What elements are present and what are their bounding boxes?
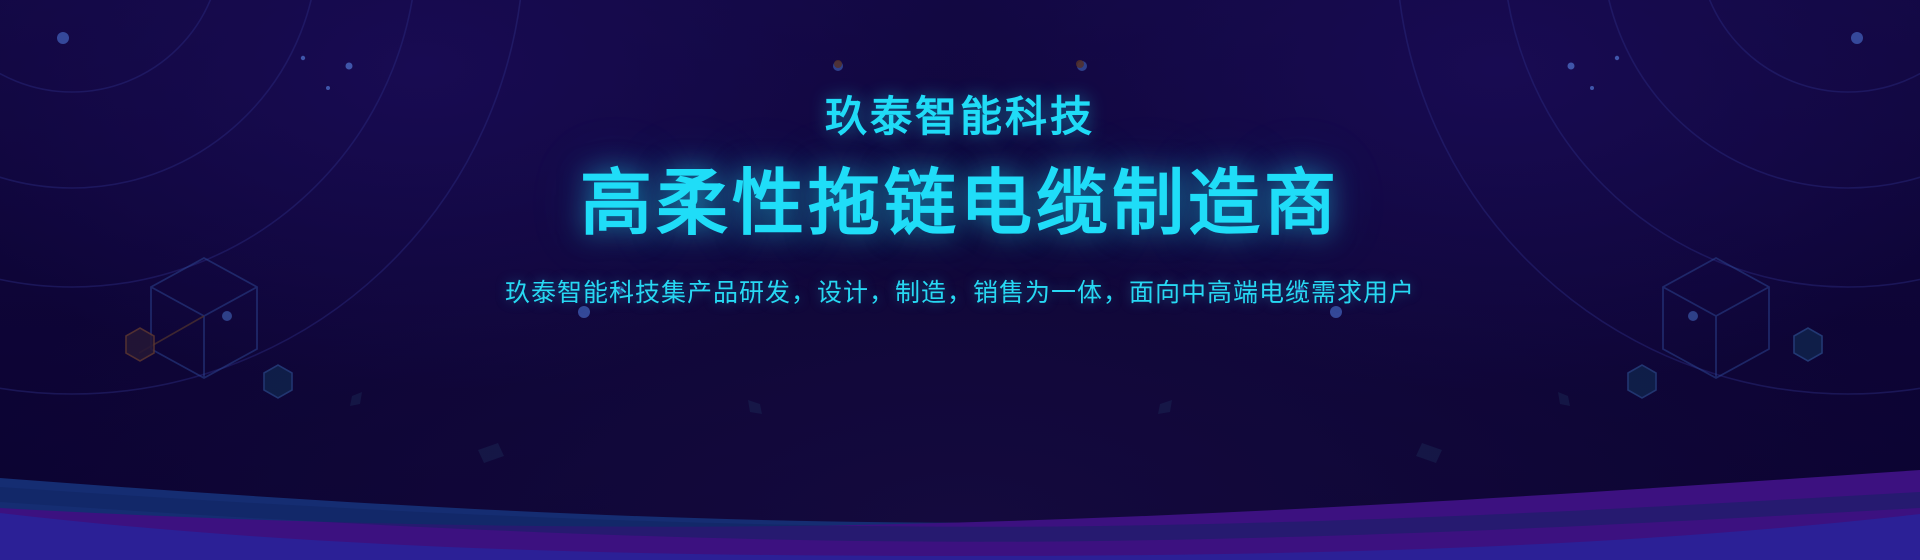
banner-headline: 高柔性拖链电缆制造商 bbox=[580, 168, 1340, 240]
banner-eyebrow: 玖泰智能科技 bbox=[825, 96, 1095, 138]
hero-banner: 玖泰智能科技 高柔性拖链电缆制造商 玖泰智能科技集产品研发，设计，制造，销售为一… bbox=[0, 0, 1920, 560]
banner-content: 玖泰智能科技 高柔性拖链电缆制造商 玖泰智能科技集产品研发，设计，制造，销售为一… bbox=[0, 0, 1920, 560]
banner-subtitle: 玖泰智能科技集产品研发，设计，制造，销售为一体，面向中高端电缆需求用户 bbox=[505, 278, 1415, 308]
